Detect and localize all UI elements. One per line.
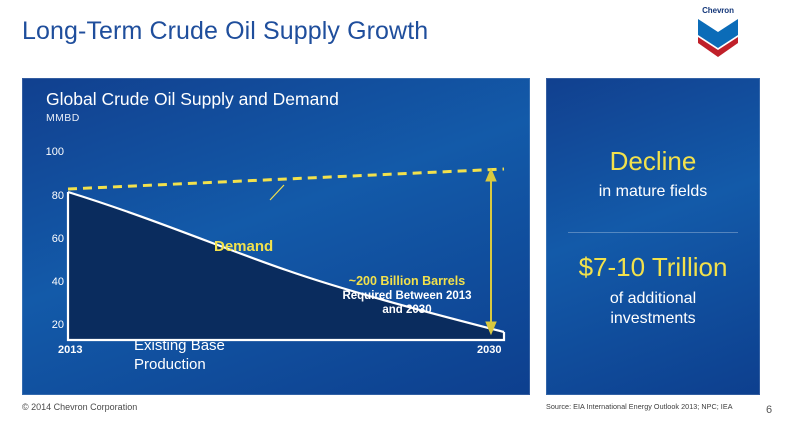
chart-panel: Global Crude Oil Supply and Demand MMBD … bbox=[22, 78, 530, 395]
highlight-2-subtext-line2: investments bbox=[546, 309, 760, 329]
panel-divider bbox=[568, 232, 738, 233]
chevron-hallmark-icon bbox=[698, 19, 738, 57]
gap-annotation: ~200 Billion Barrels Required Between 20… bbox=[327, 274, 487, 317]
existing-base-production-label-line1: Existing Base bbox=[134, 336, 225, 355]
gap-annotation-line2: Required Between 2013 bbox=[327, 289, 487, 303]
copyright-text: © 2014 Chevron Corporation bbox=[22, 402, 137, 412]
highlight-1-headline: Decline bbox=[546, 146, 760, 177]
chart-plot bbox=[22, 78, 530, 395]
demand-leader-line bbox=[270, 185, 284, 200]
gap-double-arrow bbox=[486, 169, 496, 334]
highlight-2-headline: $7-10 Trillion bbox=[546, 252, 760, 283]
chevron-logo: Chevron bbox=[688, 6, 748, 58]
page-number: 6 bbox=[766, 404, 772, 416]
gap-annotation-line1: ~200 Billion Barrels bbox=[327, 274, 487, 289]
existing-base-production-label: Existing Base Production bbox=[134, 336, 225, 374]
gap-annotation-line3: and 2030 bbox=[327, 303, 487, 317]
source-citation: Source: EIA International Energy Outlook… bbox=[546, 402, 733, 411]
demand-series-label: Demand bbox=[214, 238, 273, 255]
highlight-1-subtext: in mature fields bbox=[546, 182, 760, 202]
highlight-2-subtext-line1: of additional bbox=[546, 289, 760, 309]
page-title: Long-Term Crude Oil Supply Growth bbox=[22, 17, 428, 46]
highlights-panel: Decline in mature fields $7-10 Trillion … bbox=[546, 78, 760, 395]
chevron-wordmark: Chevron bbox=[688, 6, 748, 15]
existing-base-production-label-line2: Production bbox=[134, 355, 225, 374]
demand-line bbox=[68, 169, 504, 189]
